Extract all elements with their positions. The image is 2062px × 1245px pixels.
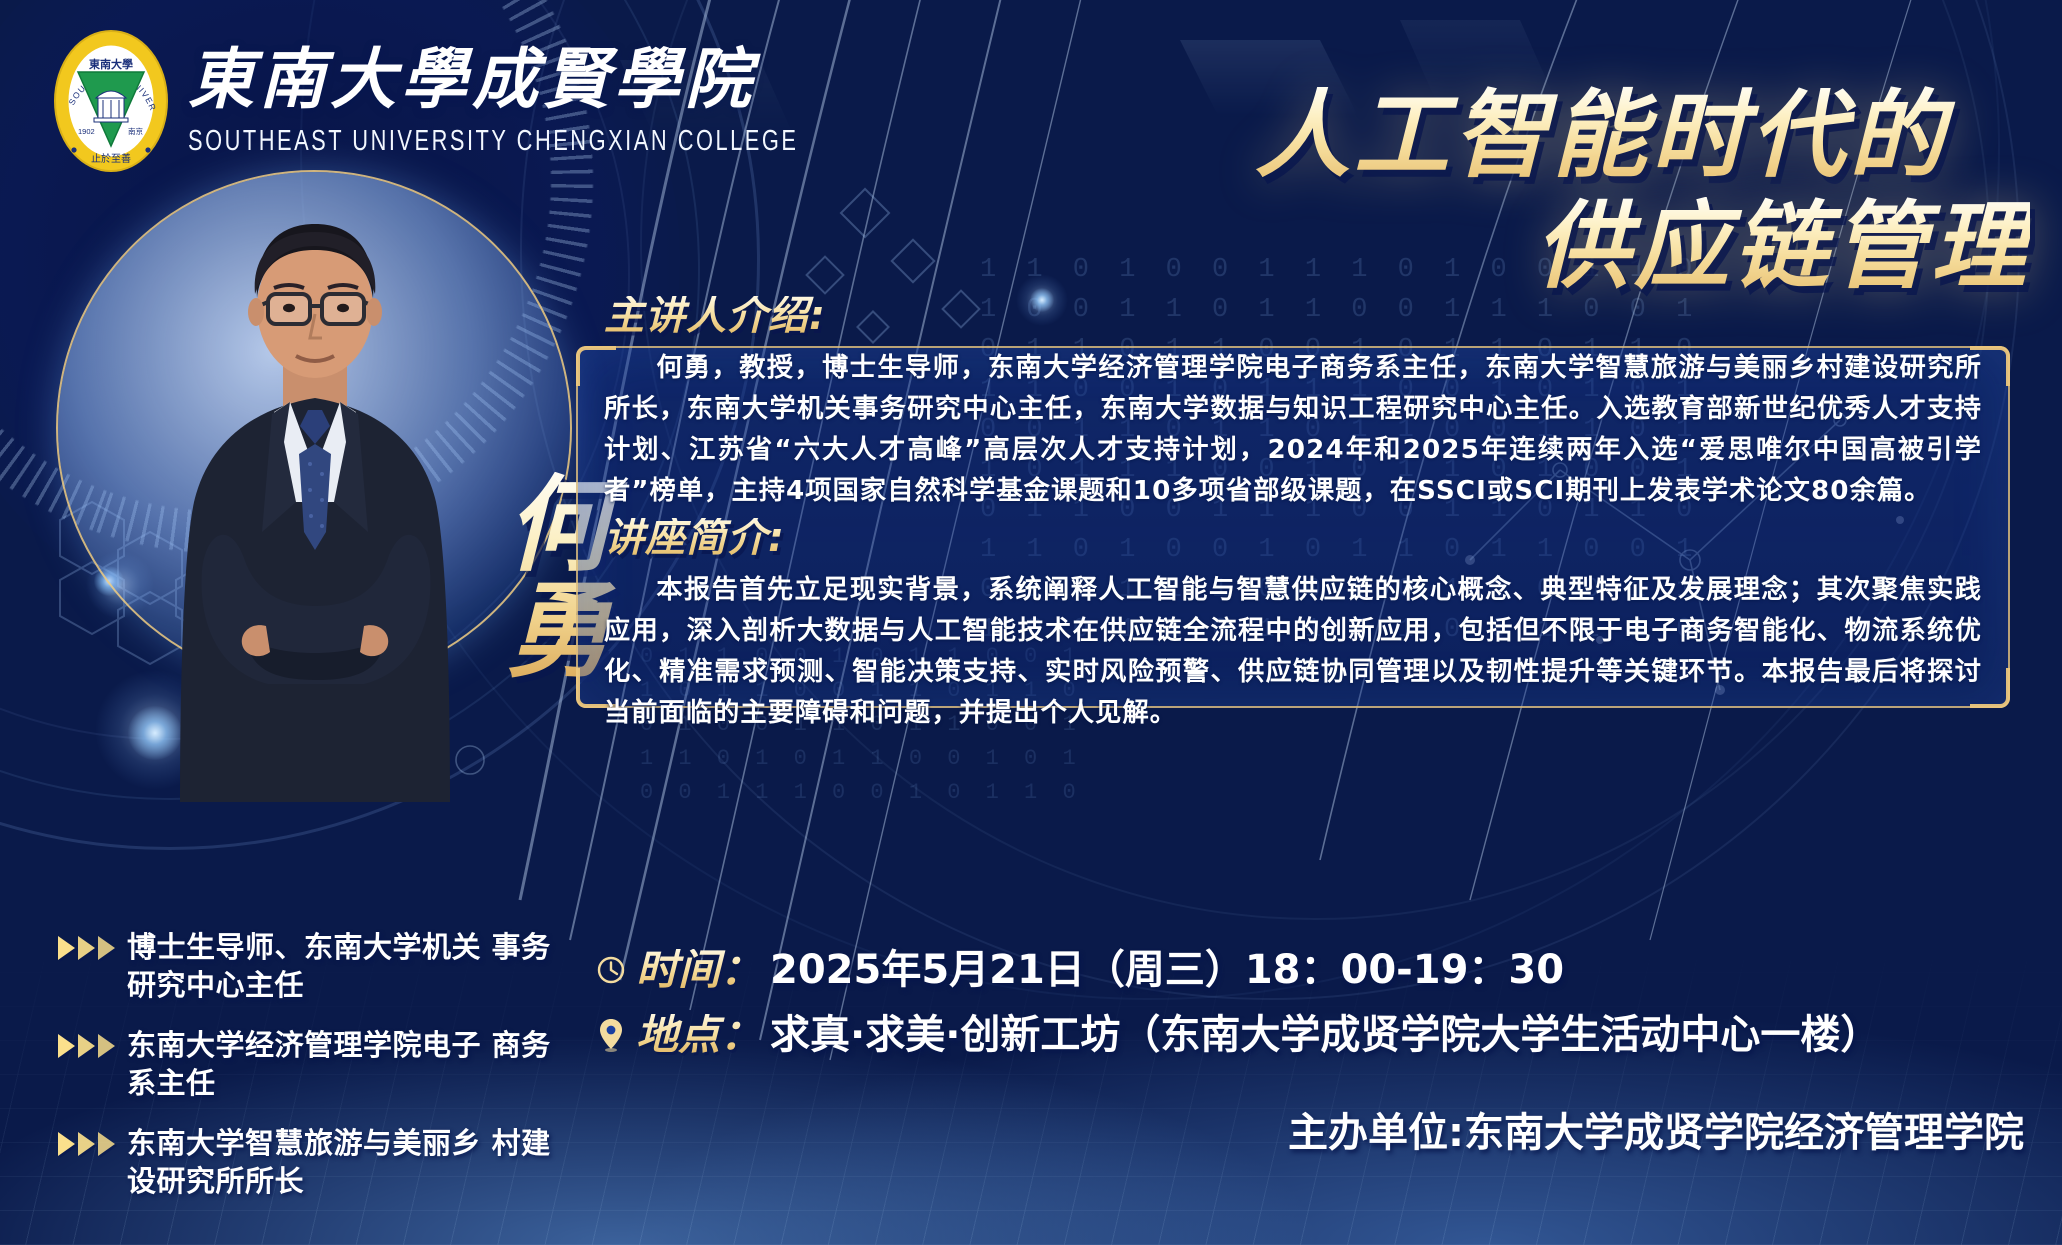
- college-name-en: SOUTHEAST UNIVERSITY CHENGXIAN COLLEGE: [188, 124, 798, 157]
- svg-text:止於至善: 止於至善: [91, 152, 131, 165]
- college-logo: SOUTHEAST UNIVERSITY 東南大學 1902 南京 止於至善: [52, 28, 817, 174]
- time-label: 时间：: [636, 949, 762, 991]
- lecture-intro-section: 讲座简介: 本报告首先立足现实背景，系统阐释人工智能与智慧供应链的核心概念、典型…: [604, 518, 1982, 734]
- place-label: 地点：: [636, 1014, 762, 1056]
- event-details: 时间： 2025年5月21日（周三）18：00-19：30 地点： 求真·求美·…: [594, 948, 2034, 1078]
- credential-text: 博士生导师、东南大学机关 事务研究中心主任: [127, 928, 578, 1004]
- triple-arrow-icon: [58, 1132, 115, 1156]
- time-value: 2025年5月21日（周三）18：00-19：30: [770, 948, 1564, 993]
- list-item: 东南大学经济管理学院电子 商务系主任: [58, 1026, 578, 1102]
- list-item: 东南大学智慧旅游与美丽乡 村建设研究所所长: [58, 1124, 578, 1200]
- list-item: 博士生导师、东南大学机关 事务研究中心主任: [58, 928, 578, 1004]
- speaker-photo: 何勇: [58, 172, 570, 812]
- organizer-text: 主办单位:东南大学成贤学院经济管理学院: [594, 1100, 2024, 1158]
- location-pin-icon: [594, 1015, 628, 1055]
- credential-text: 东南大学经济管理学院电子 商务系主任: [127, 1026, 578, 1102]
- event-place-row: 地点： 求真·求美·创新工坊（东南大学成贤学院大学生活动中心一楼）: [594, 1013, 2034, 1058]
- event-time-row: 时间： 2025年5月21日（周三）18：00-19：30: [594, 948, 2034, 993]
- clock-icon: [594, 950, 628, 990]
- speaker-intro-heading: 主讲人介绍:: [604, 296, 1982, 336]
- place-value: 求真·求美·创新工坊（东南大学成贤学院大学生活动中心一楼）: [770, 1013, 1880, 1058]
- credential-list: 博士生导师、东南大学机关 事务研究中心主任 东南大学经济管理学院电子 商务系主任…: [58, 928, 578, 1222]
- speaker-intro-section: 主讲人介绍: 何勇，教授，博士生导师，东南大学经济管理学院电子商务系主任，东南大…: [604, 296, 1982, 512]
- info-card: 主讲人介绍: 何勇，教授，博士生导师，东南大学经济管理学院电子商务系主任，东南大…: [576, 346, 2010, 708]
- college-name-cn: 東南大學成賢學院: [188, 48, 817, 114]
- poster-canvas: 1 1 0 1 0 0 1 1 1 0 1 0 0 1 1 0 1 0 0 1 …: [0, 0, 2062, 1245]
- university-seal-icon: SOUTHEAST UNIVERSITY 東南大學 1902 南京 止於至善: [52, 28, 170, 174]
- lecture-intro-body: 本报告首先立足现实背景，系统阐释人工智能与智慧供应链的核心概念、典型特征及发展理…: [604, 570, 1982, 734]
- poster-title: 人工智能时代的 供应链管理: [800, 86, 2030, 297]
- svg-text:1902: 1902: [78, 127, 95, 136]
- svg-text:南京: 南京: [128, 126, 143, 136]
- speaker-portrait-illustration: [150, 202, 480, 862]
- svg-text:東南大學: 東南大學: [89, 57, 133, 71]
- speaker-intro-body: 何勇，教授，博士生导师，东南大学经济管理学院电子商务系主任，东南大学智慧旅游与美…: [604, 348, 1982, 512]
- title-line-2: 供应链管理: [800, 197, 2030, 298]
- credential-text: 东南大学智慧旅游与美丽乡 村建设研究所所长: [127, 1124, 578, 1200]
- title-line-1: 人工智能时代的: [800, 86, 2030, 187]
- lecture-intro-heading: 讲座简介:: [604, 518, 1982, 558]
- triple-arrow-icon: [58, 1034, 115, 1058]
- triple-arrow-icon: [58, 936, 115, 960]
